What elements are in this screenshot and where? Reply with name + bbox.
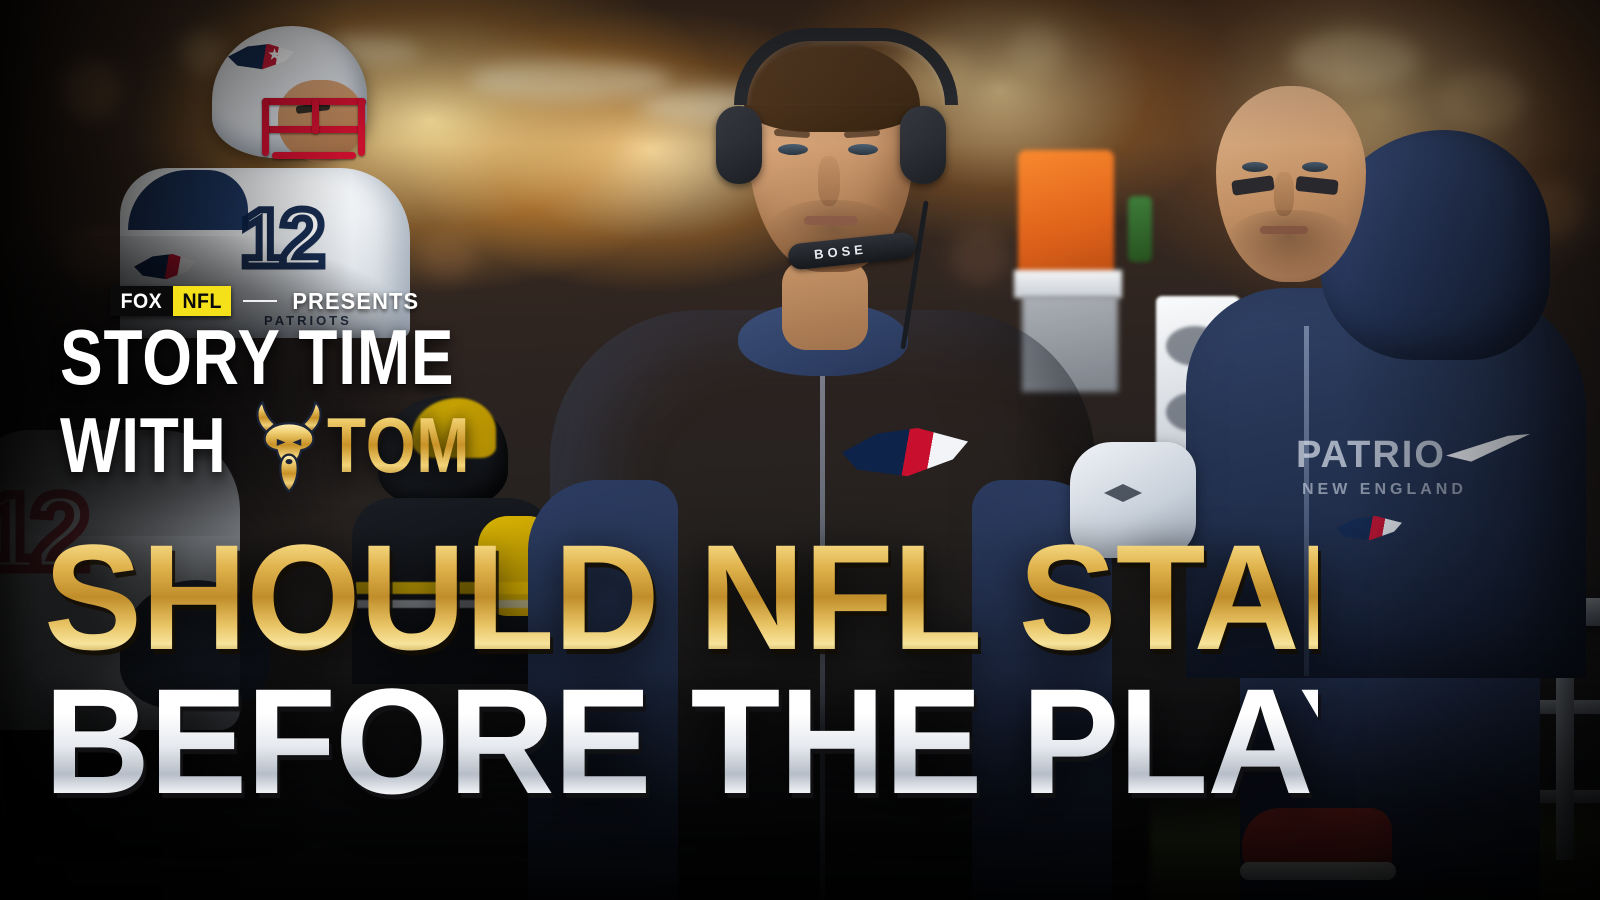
presents-label: PRESENTS — [292, 290, 419, 313]
headline: SHOULD NFL STARS REST BEFORE THE PLAYOFF… — [44, 528, 1344, 810]
thumbnail-graphic: 12 PATRIOTS 12 — [0, 0, 1600, 900]
network-branding: FOX NFL PRESENTS — [110, 286, 423, 316]
goat-emblem-icon — [245, 397, 333, 493]
show-title: STORY TIME WITH — [60, 318, 541, 488]
show-title-tom: TOM — [327, 406, 470, 484]
show-title-line2: WITH — [60, 402, 541, 488]
fox-nfl-logo: FOX NFL — [110, 286, 231, 316]
show-title-with: WITH — [60, 406, 227, 484]
show-title-line1: STORY TIME — [60, 318, 454, 396]
divider-rule — [243, 300, 277, 302]
nfl-label: NFL — [182, 291, 221, 312]
nfl-logo-box: NFL — [173, 286, 231, 316]
headline-line-1: SHOULD NFL STARS REST — [44, 528, 1318, 666]
text-overlay: FOX NFL PRESENTS STORY TIME WITH — [0, 0, 1600, 900]
fox-label: FOX — [121, 291, 163, 312]
fox-logo-box: FOX — [110, 286, 173, 316]
headline-line-2: BEFORE THE PLAYOFFS? — [44, 672, 1318, 810]
